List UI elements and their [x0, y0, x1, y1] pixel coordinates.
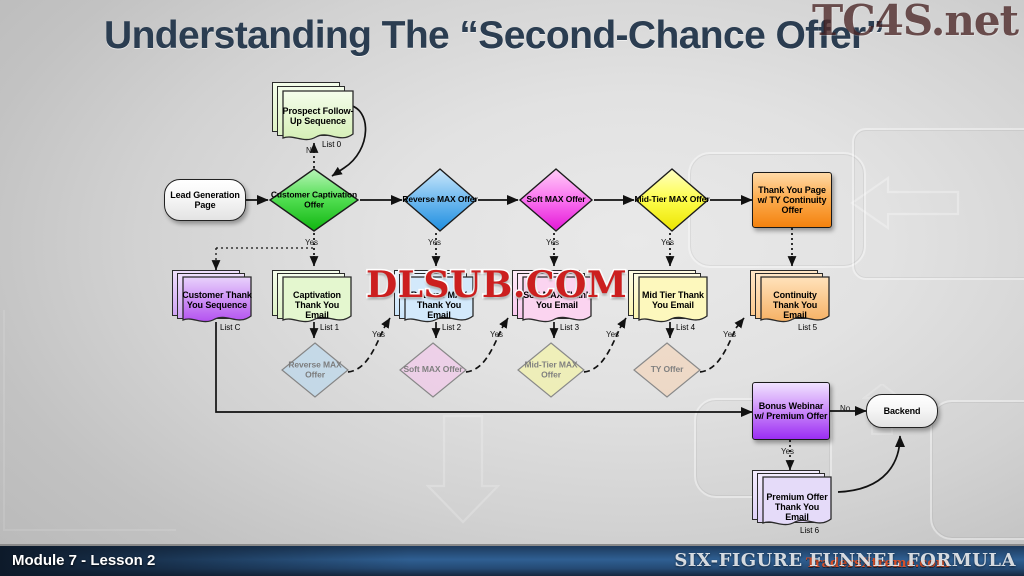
node-list-label: List 6 [800, 526, 819, 535]
node-mid-tier-max-offer[interactable]: Mid-Tier MAX Offer [634, 167, 710, 233]
node-soft-max-offer[interactable]: Soft MAX Offer [518, 167, 594, 233]
edge-label-yes-alt-soft: Yes [490, 330, 503, 339]
node-label: Reverse MAX Offer [402, 195, 478, 205]
node-label: Soft MAX Offer [398, 365, 468, 375]
slide-canvas: Understanding The “Second-Chance Offer” … [0, 0, 1024, 576]
node-label: Soft MAX Thank You Email [522, 290, 592, 310]
footer-module-label: Module 7 - Lesson 2 [12, 552, 155, 569]
node-lead-generation-page[interactable]: Lead Generation Page [164, 179, 246, 221]
node-label: Mid-Tier MAX Offer [516, 360, 586, 379]
node-list-label: List 1 [320, 323, 339, 332]
node-list-label: List 4 [676, 323, 695, 332]
node-continuity-thank-you-email[interactable]: Continuity Thank You Email List 5 [750, 270, 836, 322]
node-label: Bonus Webinar w/ Premium Offer [753, 401, 829, 421]
node-captivation-thank-you-email[interactable]: Captivation Thank You Email List 1 [272, 270, 358, 322]
node-list-label: List 3 [560, 323, 579, 332]
node-label: Reverse MAX Offer [280, 360, 350, 379]
node-label: Customer Captivation Offer [268, 190, 360, 209]
node-label: Continuity Thank You Email [760, 290, 830, 320]
node-label: Reverse MAX Thank You Email [404, 290, 474, 320]
edge-label-yes-premium: Yes [781, 447, 794, 456]
edge-label-yes-soft: Yes [546, 238, 559, 247]
edge-label-yes-reverse: Yes [428, 238, 441, 247]
node-list-label: List C [220, 323, 240, 332]
node-label: Soft MAX Offer [518, 195, 594, 205]
edge-label-yes-alt-reverse: Yes [372, 330, 385, 339]
node-label: Premium Offer Thank You Email [762, 492, 832, 522]
footer-brand-label: SIX-FIGURE FUNNEL FORMULA [674, 550, 1016, 571]
node-label: Mid-Tier MAX Offer [634, 195, 710, 205]
node-soft-max-thank-you-email[interactable]: Soft MAX Thank You Email List 3 [512, 270, 598, 322]
node-thank-you-page[interactable]: Thank You Page w/ TY Continuity Offer [752, 172, 832, 228]
node-list-label: List 5 [798, 323, 817, 332]
node-reverse-max-thank-you-email[interactable]: Reverse MAX Thank You Email List 2 [394, 270, 480, 322]
node-label: Thank You Page w/ TY Continuity Offer [753, 185, 831, 215]
node-label: Prospect Follow-Up Sequence [282, 106, 354, 126]
node-prospect-follow-up-sequence[interactable]: Prospect Follow-Up Sequence List 0 [272, 82, 352, 140]
edge-label-yes-captivation: Yes [305, 238, 318, 247]
node-mid-tier-max-offer-alt[interactable]: Mid-Tier MAX Offer [516, 341, 586, 399]
node-customer-captivation-offer[interactable]: Customer Captivation Offer [268, 167, 360, 233]
node-list-label: List 0 [322, 140, 341, 149]
edge-label-yes-alt-midtier: Yes [606, 330, 619, 339]
node-backend[interactable]: Backend [866, 394, 938, 428]
node-mid-tier-thank-you-email[interactable]: Mid Tier Thank You Email List 4 [628, 270, 714, 322]
node-premium-offer-thank-you-email[interactable]: Premium Offer Thank You Email List 6 [752, 470, 838, 526]
node-label: TY Offer [632, 365, 702, 375]
node-customer-thank-you-sequence[interactable]: Customer Thank You Sequence List C [172, 270, 258, 322]
node-label: Customer Thank You Sequence [182, 290, 252, 310]
footer-bar: Module 7 - Lesson 2 SIX-FIGURE FUNNEL FO… [0, 544, 1024, 576]
node-reverse-max-offer[interactable]: Reverse MAX Offer [402, 167, 478, 233]
node-list-label: List 2 [442, 323, 461, 332]
node-label: Backend [867, 406, 937, 416]
node-bonus-webinar[interactable]: Bonus Webinar w/ Premium Offer [752, 382, 830, 440]
node-label: Lead Generation Page [165, 190, 245, 210]
edge-label-yes-alt-ty: Yes [723, 330, 736, 339]
node-soft-max-offer-alt[interactable]: Soft MAX Offer [398, 341, 468, 399]
node-ty-offer-alt[interactable]: TY Offer [632, 341, 702, 399]
edge-label-no-follow-up: No [306, 146, 316, 155]
node-label: Captivation Thank You Email [282, 290, 352, 320]
node-reverse-max-offer-alt[interactable]: Reverse MAX Offer [280, 341, 350, 399]
node-label: Mid Tier Thank You Email [638, 290, 708, 310]
edge-label-yes-midtier: Yes [661, 238, 674, 247]
edge-label-no-backend: No [840, 404, 850, 413]
